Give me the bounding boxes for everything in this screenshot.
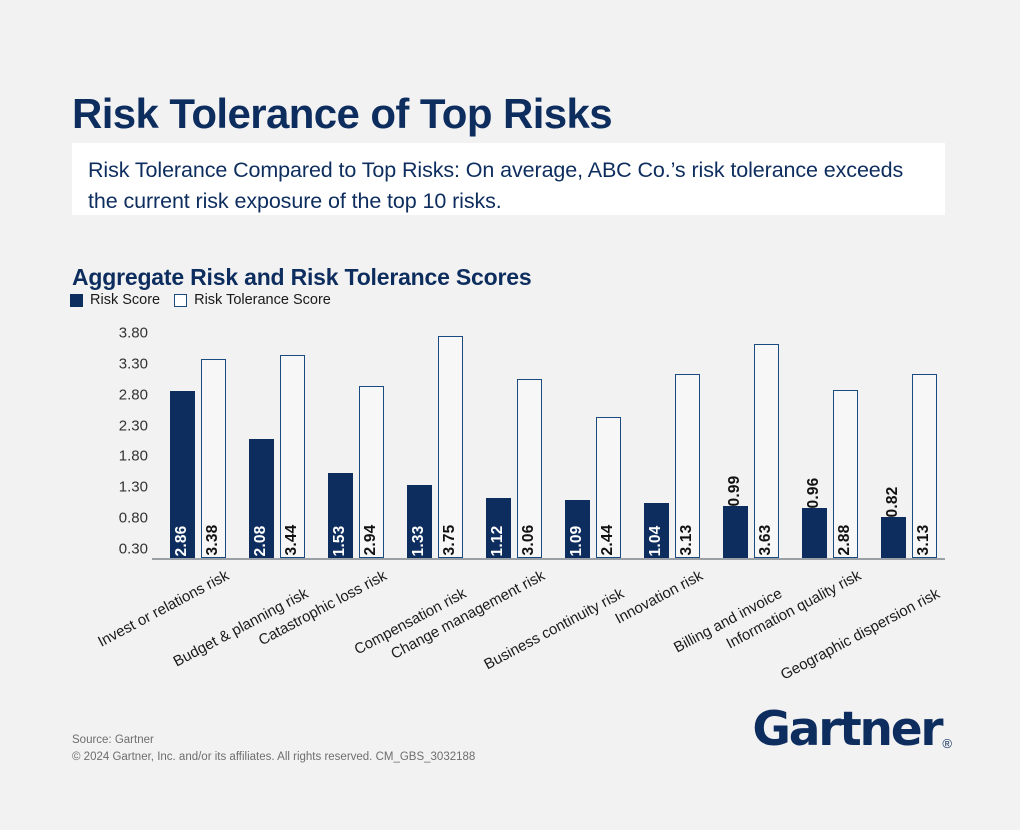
footer-copyright: © 2024 Gartner, Inc. and/or its affiliat… [72,749,475,766]
gartner-logo: Gartner ® [752,706,952,753]
registered-trademark-icon: ® [942,737,952,750]
slide-canvas: Risk Tolerance of Top Risks Risk Toleran… [0,0,1020,830]
gartner-logo-text: Gartner [752,706,941,753]
footer-source: Source: Gartner [72,732,475,749]
footer-notes: Source: Gartner © 2024 Gartner, Inc. and… [72,732,475,767]
